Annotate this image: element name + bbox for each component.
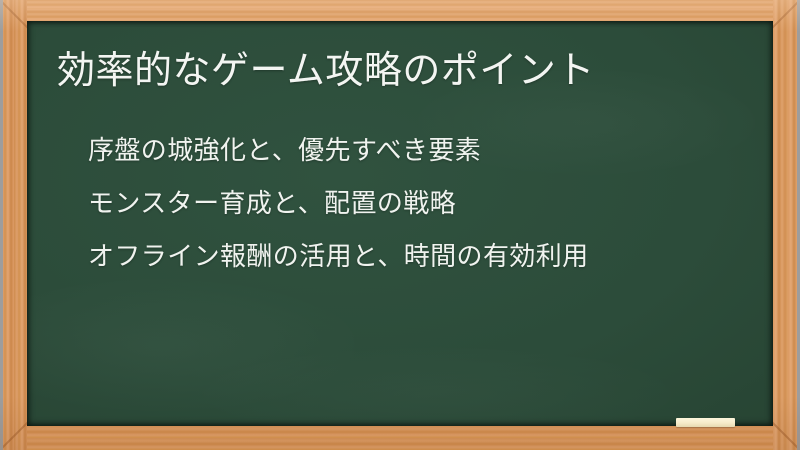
chalkboard-surface: 効率的なゲーム攻略のポイント 序盤の城強化と、優先すべき要素 モンスター育成と、…: [27, 21, 773, 426]
frame-rail-top: [0, 0, 800, 21]
frame-outer-edge-left: [0, 0, 3, 450]
frame-rail-left: [0, 0, 27, 450]
bullet-list: 序盤の城強化と、優先すべき要素 モンスター育成と、配置の戦略 オフライン報酬の活…: [88, 125, 758, 284]
chalk-stick-icon: [676, 418, 735, 427]
frame-rail-right: [773, 0, 800, 450]
bullet-item-1: 序盤の城強化と、優先すべき要素: [88, 125, 758, 178]
bullet-item-2: モンスター育成と、配置の戦略: [88, 178, 758, 231]
bullet-item-3: オフライン報酬の活用と、時間の有効利用: [88, 231, 758, 284]
frame-rail-bottom: [0, 426, 800, 450]
chalkboard-slide: 効率的なゲーム攻略のポイント 序盤の城強化と、優先すべき要素 モンスター育成と、…: [0, 0, 800, 450]
slide-title: 効率的なゲーム攻略のポイント: [57, 45, 757, 95]
